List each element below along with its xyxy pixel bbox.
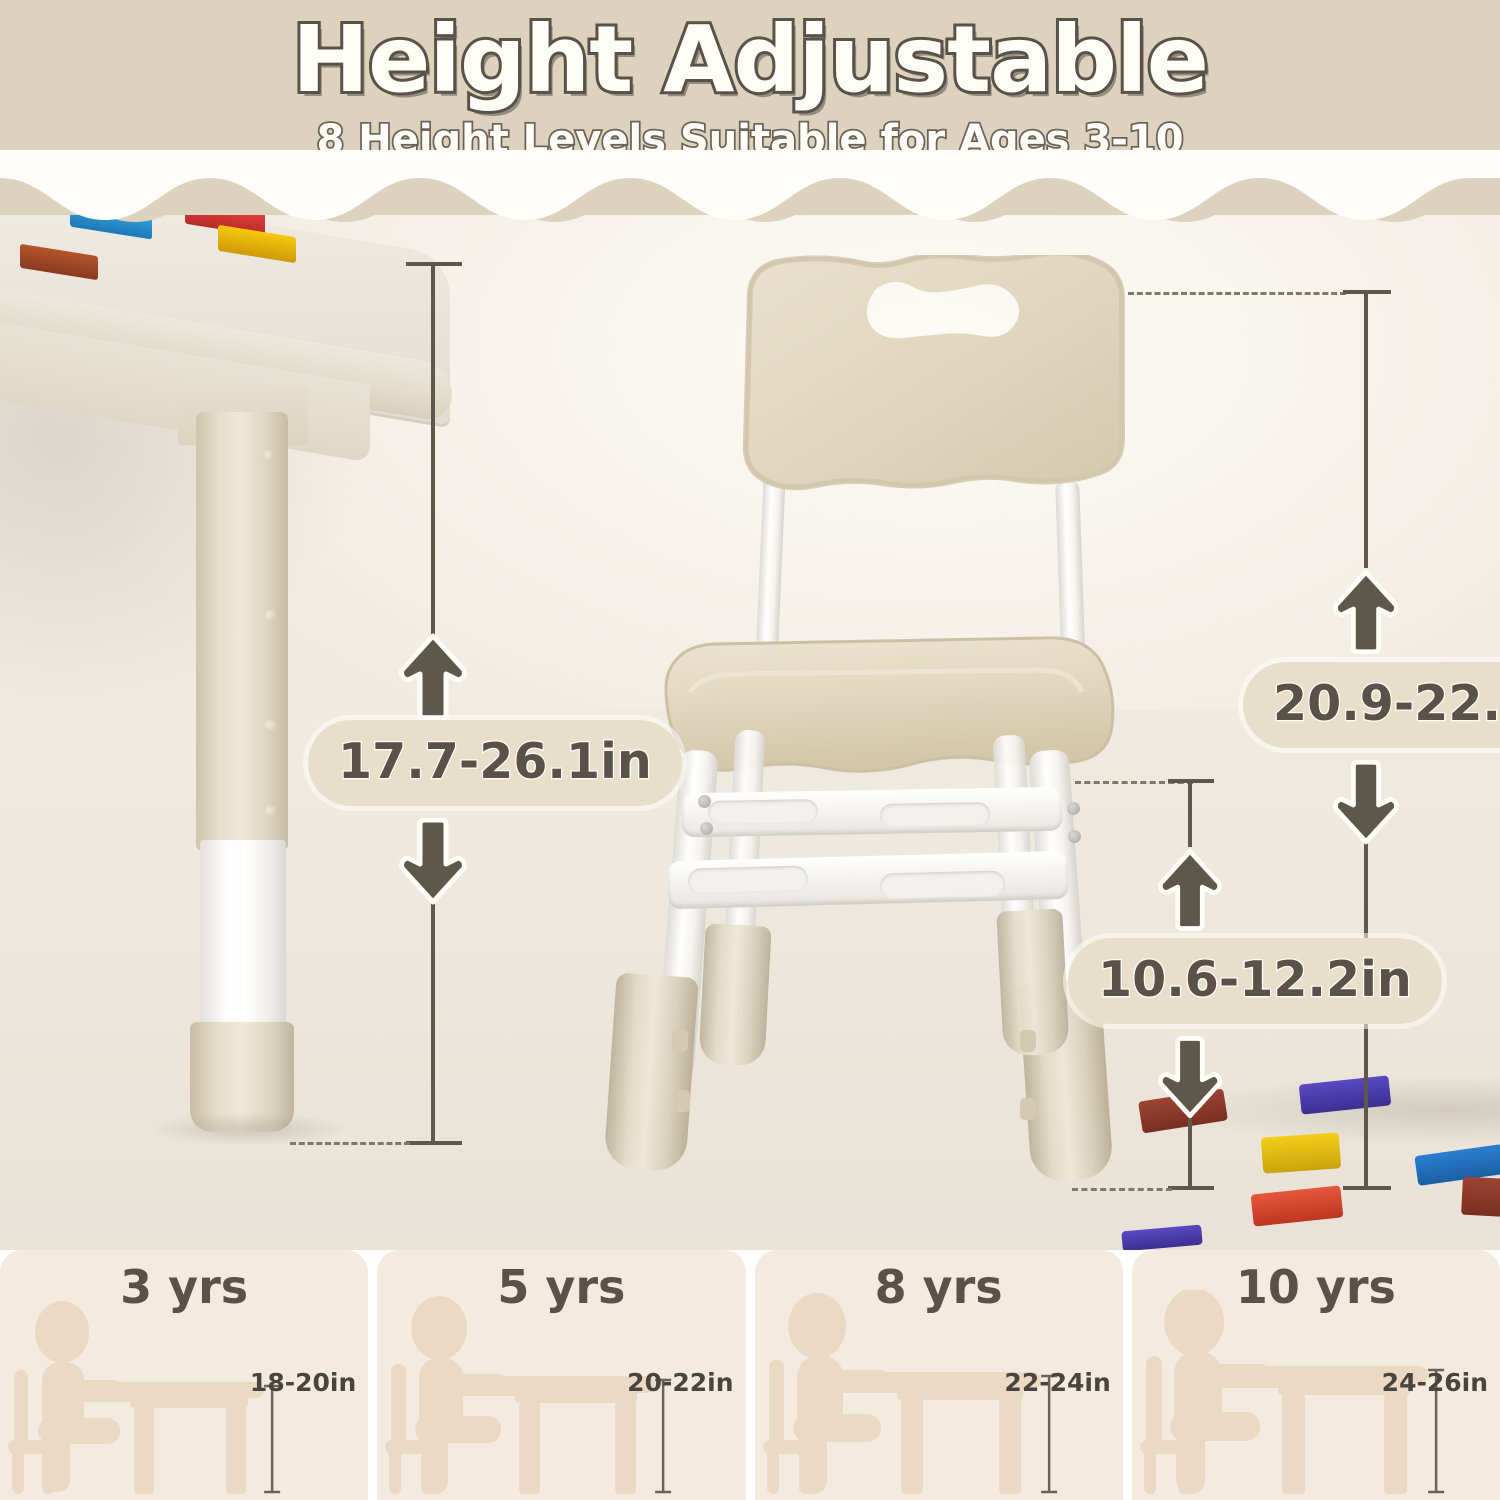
dim-line-upper — [1188, 779, 1192, 847]
table-leg-screw — [262, 450, 275, 463]
chair-screw — [698, 795, 711, 808]
arrow-down-icon — [398, 818, 468, 908]
dim-line-upper — [1364, 290, 1368, 568]
dimension-badge-chair-total: 20.9-22.5in — [1243, 662, 1500, 748]
scalloped-divider — [0, 150, 1500, 225]
dimension-badge-seat: 10.6-12.2in — [1068, 938, 1442, 1024]
chair-rail-lower-groove — [688, 865, 809, 894]
arrow-up-icon — [1332, 566, 1400, 654]
chair-cap-adjust-notch — [1020, 1030, 1036, 1052]
age-card-height: 18-20in — [250, 1368, 356, 1397]
toy-block — [1461, 1177, 1500, 1218]
infographic-root: Height Adjustable 8 Height Levels Suitab… — [0, 0, 1500, 1500]
table-leg-upper — [196, 412, 288, 852]
dimension-badge-table: 17.7-26.1in — [308, 720, 682, 806]
chair-backrest — [720, 255, 1152, 505]
chair-rail-upper-groove — [880, 802, 990, 828]
arrow-up-icon — [398, 630, 468, 720]
dim-line-upper — [431, 262, 435, 652]
dim-line-lower — [431, 900, 435, 1145]
chair-screw — [1068, 830, 1081, 843]
age-recommendation-row: 3 yrs — [0, 1250, 1500, 1500]
dim-leader-bottom — [1072, 1188, 1172, 1191]
dim-line-lower — [1188, 1118, 1192, 1190]
age-card: 10 yrs — [1132, 1250, 1500, 1500]
age-card-height: 20-22in — [627, 1368, 733, 1397]
toy-block — [1261, 1132, 1341, 1173]
table-foot-shadow — [148, 1112, 348, 1146]
table-leg-screw — [264, 805, 277, 818]
arrow-up-icon — [1157, 845, 1223, 931]
dim-cap-bottom — [1168, 1186, 1214, 1190]
dim-cap-bottom — [1343, 1186, 1391, 1190]
age-card-height: 22-24in — [1004, 1368, 1110, 1397]
age-card-height: 24-26in — [1382, 1368, 1488, 1397]
table-leg-screw — [264, 610, 277, 623]
dim-cap-bottom — [406, 1141, 462, 1145]
page-title: Height Adjustable — [0, 6, 1500, 113]
chair-foot-cap-front-left — [603, 972, 698, 1172]
chair-cap-adjust-notch — [672, 1030, 688, 1052]
age-card: 3 yrs — [0, 1250, 368, 1500]
dim-leader-top — [1128, 292, 1346, 295]
arrow-down-icon — [1157, 1036, 1223, 1122]
chair-cap-adjust-notch — [674, 1090, 690, 1112]
chair-cap-adjust-notch — [1020, 1098, 1036, 1120]
chair-rail-lower-groove — [880, 870, 1006, 899]
chair-foot-cap-rear-left — [698, 923, 771, 1066]
chair-screw — [1067, 802, 1080, 815]
arrow-down-icon — [1332, 760, 1400, 848]
table-leg-screw — [264, 720, 277, 733]
chair-rail-upper-groove — [708, 799, 818, 825]
chair-screw — [700, 822, 713, 835]
table-leg-lower — [200, 840, 286, 1035]
dim-leader-bottom — [290, 1142, 410, 1145]
age-card: 8 yrs — [755, 1250, 1123, 1500]
age-card: 5 yrs — [377, 1250, 745, 1500]
